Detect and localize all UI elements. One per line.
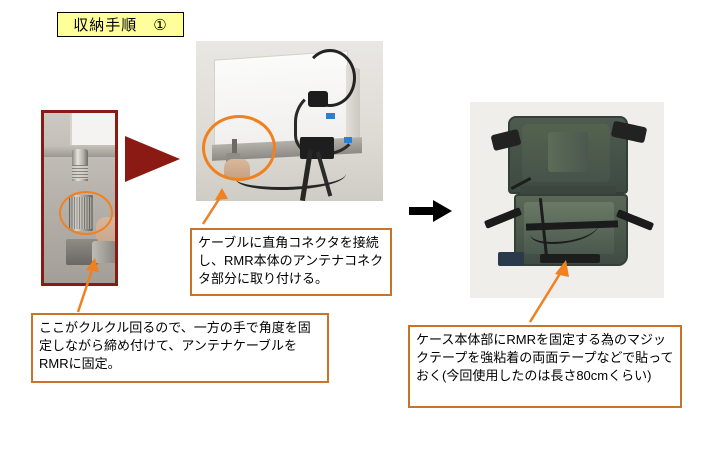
callout-left: ここがクルクル回るので、一方の手で角度を固定しながら締め付けて、アンテナケーブル… (31, 313, 329, 383)
upper-connector (72, 149, 88, 181)
blue-connector-tip-1 (326, 113, 335, 119)
case-lid-ridge (548, 132, 588, 172)
red-arrow-left-to-middle-icon (125, 136, 180, 182)
blue-connector-tip-2 (344, 137, 352, 143)
callout-right-text: ケース本体部にRMRを固定する為のマジックテープを強粘着の両面テープなどで貼って… (416, 332, 674, 383)
side-connector (92, 241, 116, 263)
small-device (498, 252, 524, 266)
photo-rmr-unit-with-cables (196, 41, 383, 201)
slide-canvas: 収納手順 ① (0, 0, 718, 450)
black-arrow-middle-to-right-icon (409, 200, 452, 222)
orange-ellipse-annotation-icon (59, 191, 113, 235)
photo-antenna-connector-closeup (41, 110, 118, 286)
photo-open-hard-case (470, 102, 664, 298)
cable-connector-block (308, 91, 328, 107)
black-bar-accessory (540, 254, 600, 263)
orange-ellipse-annotation-icon (202, 115, 276, 181)
callout-middle: ケーブルに直角コネクタを接続し、RMR本体のアンテナコネクタ部分に取り付ける。 (190, 228, 392, 296)
callout-right: ケース本体部にRMRを固定する為のマジックテープを強粘着の両面テープなどで貼って… (408, 325, 682, 408)
slide-title-text: 収納手順 ① (73, 14, 167, 35)
callout-middle-text: ケーブルに直角コネクタを接続し、RMR本体のアンテナコネクタ部分に取り付ける。 (198, 235, 383, 286)
slide-title-chip: 収納手順 ① (57, 12, 184, 37)
callout-left-text: ここがクルクル回るので、一方の手で角度を固定しながら締め付けて、アンテナケーブル… (39, 320, 311, 371)
